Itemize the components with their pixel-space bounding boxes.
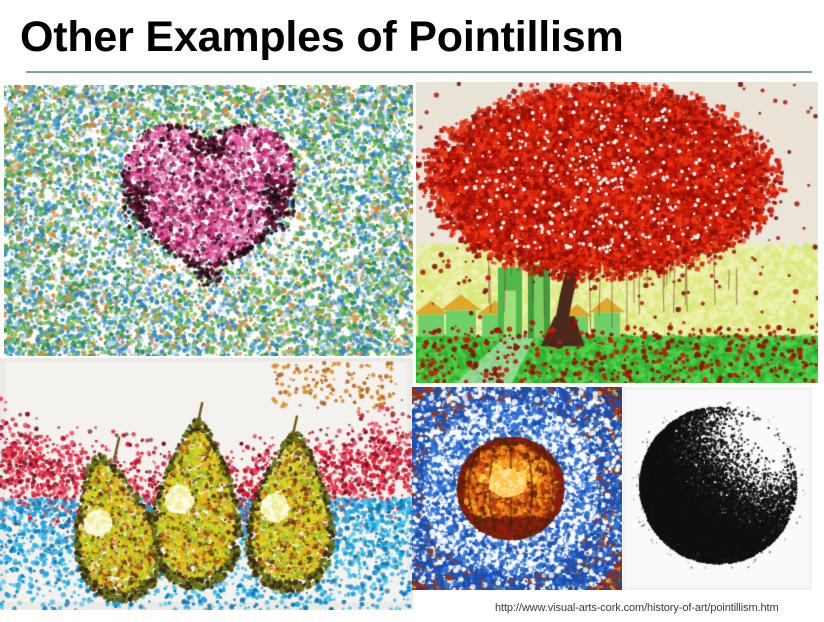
artwork-pumpkin — [412, 387, 622, 590]
pointillist-pears-still-life — [0, 358, 413, 610]
pointillist-heart-painting — [4, 85, 413, 356]
slide-canvas: Other Examples of Pointillism http://www… — [0, 0, 824, 622]
stippled-sphere-drawing — [623, 387, 812, 590]
artwork-heart — [4, 85, 413, 356]
artwork-pears — [0, 358, 413, 610]
pointillist-pumpkin-painting — [412, 387, 622, 590]
artwork-sphere — [623, 387, 812, 590]
title-divider — [26, 71, 812, 73]
artwork-tree — [416, 82, 818, 383]
red-blossom-tree-painting — [416, 82, 818, 383]
source-url-caption: http://www.visual-arts-cork.com/history-… — [495, 600, 815, 616]
page-title: Other Examples of Pointillism — [20, 8, 810, 66]
